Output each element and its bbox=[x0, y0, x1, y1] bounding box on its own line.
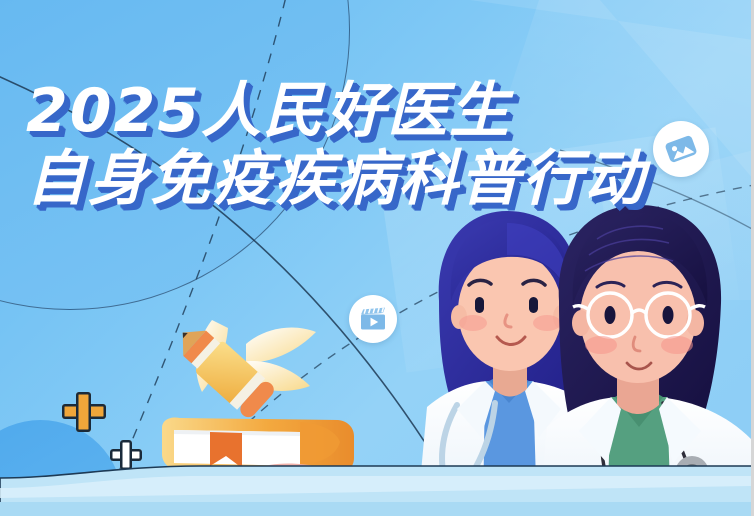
doctor-left-eye-right bbox=[529, 297, 538, 313]
doctor-left-face bbox=[458, 251, 562, 371]
doctor-right-face bbox=[580, 251, 696, 383]
title-line-1: 2025人民好医生 bbox=[26, 78, 646, 144]
poster-title: 2025人民好医生 自身免疫疾病科普行动 bbox=[26, 78, 646, 212]
poster-canvas: 2025人民好医生 自身免疫疾病科普行动 bbox=[0, 0, 754, 516]
title-line-2: 自身免疫疾病科普行动 bbox=[26, 146, 646, 212]
desk-counter bbox=[0, 464, 754, 516]
doctor-right-eye-right bbox=[663, 306, 674, 324]
pencil-wing-right-upper bbox=[246, 328, 316, 363]
doctor-left-eye-left bbox=[475, 297, 484, 313]
doctor-right-eye-left bbox=[605, 306, 616, 324]
